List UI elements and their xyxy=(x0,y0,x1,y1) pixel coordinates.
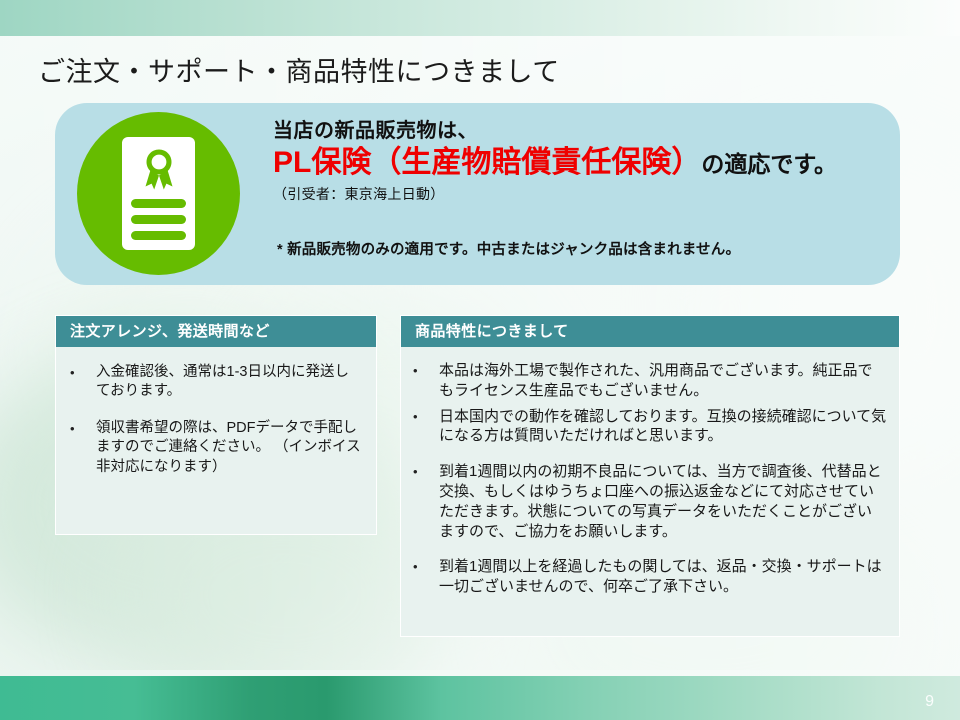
order-arrangement-panel-body: • 入金確認後、通常は1-3日以内に発送しております。 • 領収書希望の際は、P… xyxy=(56,347,376,505)
order-arrangement-panel: 注文アレンジ、発送時間など • 入金確認後、通常は1-3日以内に発送しております… xyxy=(55,315,377,535)
banner-text-block: 当店の新品販売物は、 PL保険（生産物賠償責任保険）の適応です。 （引受者：東京… xyxy=(273,119,888,204)
list-item: • 領収書希望の際は、PDFデータで手配しますのでご連絡ください。 （インボイス… xyxy=(66,419,362,476)
product-characteristics-panel: 商品特性につきまして • 本品は海外工場で製作された、汎用商品でございます。純正… xyxy=(400,315,900,637)
list-item: • 日本国内での動作を確認しております。互換の接続確認について気になる方は質問い… xyxy=(409,407,887,447)
page-title: ご注文・サポート・商品特性につきまして xyxy=(38,50,560,89)
bullet-icon: • xyxy=(409,557,439,577)
bullet-icon: • xyxy=(409,361,439,381)
product-characteristics-panel-header: 商品特性につきまして xyxy=(401,316,899,347)
bullet-icon: • xyxy=(66,419,96,439)
bottom-band: 9 xyxy=(0,676,960,720)
top-band xyxy=(0,0,960,36)
insurance-banner: 当店の新品販売物は、 PL保険（生産物賠償責任保険）の適応です。 （引受者：東京… xyxy=(55,103,900,285)
list-item: • 本品は海外工場で製作された、汎用商品でございます。純正品でもライセンス生産品… xyxy=(409,361,887,401)
list-item-text: 領収書希望の際は、PDFデータで手配しますのでご連絡ください。 （インボイス非対… xyxy=(96,419,362,476)
certificate-icon xyxy=(77,112,240,275)
bullet-icon: • xyxy=(66,363,96,383)
list-item-text: 本品は海外工場で製作された、汎用商品でございます。純正品でもライセンス生産品でも… xyxy=(439,361,887,401)
list-item: • 入金確認後、通常は1-3日以内に発送しております。 xyxy=(66,363,362,401)
bullet-icon: • xyxy=(409,407,439,427)
certificate-text-line xyxy=(131,199,186,208)
list-item-text: 入金確認後、通常は1-3日以内に発送しております。 xyxy=(96,363,362,401)
banner-insurance-line: PL保険（生産物賠償責任保険）の適応です。 xyxy=(273,146,888,181)
product-characteristics-panel-body: • 本品は海外工場で製作された、汎用商品でございます。純正品でもライセンス生産品… xyxy=(401,347,899,613)
page-number: 9 xyxy=(925,693,934,711)
certificate-document-shape xyxy=(122,137,195,250)
list-item-text: 日本国内での動作を確認しております。互換の接続確認について気になる方は質問いただ… xyxy=(439,407,887,447)
banner-headline: 当店の新品販売物は、 xyxy=(273,119,888,144)
pl-insurance-label: PL保険（生産物賠償責任保険） xyxy=(273,146,701,179)
list-item: • 到着1週間以上を経過したもの関しては、返品・交換・サポートは一切ございません… xyxy=(409,557,887,597)
banner-footnote: * 新品販売物のみの適用です。中古またはジャンク品は含まれません。 xyxy=(277,238,740,259)
certificate-text-line xyxy=(131,231,186,240)
order-arrangement-panel-header: 注文アレンジ、発送時間など xyxy=(56,316,376,347)
banner-suffix-label: の適応です。 xyxy=(701,151,837,177)
list-item: • 到着1週間以内の初期不良品については、当方で調査後、代替品と交換、もしくはゆ… xyxy=(409,462,887,541)
award-ribbon-icon xyxy=(140,148,178,194)
list-item-text: 到着1週間以内の初期不良品については、当方で調査後、代替品と交換、もしくはゆうち… xyxy=(439,462,887,541)
bullet-icon: • xyxy=(409,462,439,482)
certificate-text-line xyxy=(131,215,186,224)
list-item-text: 到着1週間以上を経過したもの関しては、返品・交換・サポートは一切ございませんので… xyxy=(439,557,887,597)
slide-canvas: ご注文・サポート・商品特性につきまして 当店の新品販売物は、 PL保険（生産物賠… xyxy=(0,0,960,720)
underwriter-label: （引受者：東京海上日動） xyxy=(273,184,888,204)
